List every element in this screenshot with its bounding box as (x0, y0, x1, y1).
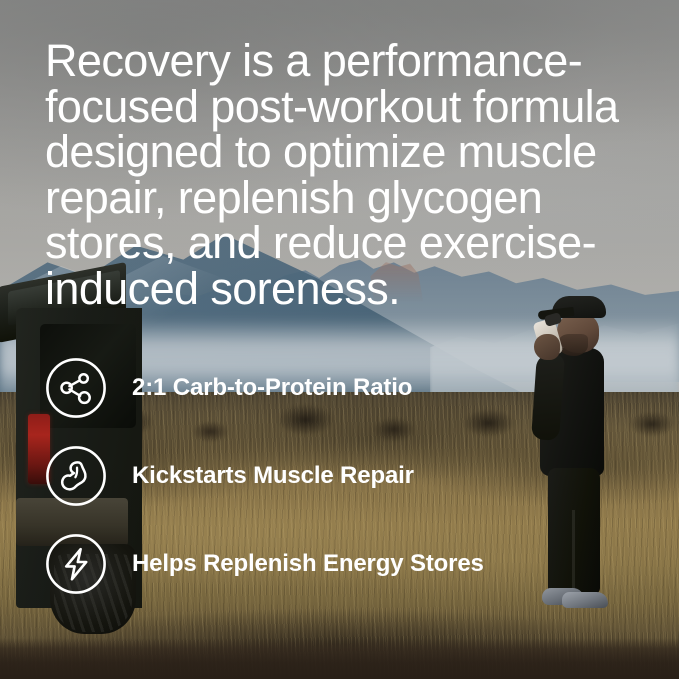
feature-label: Helps Replenish Energy Stores (132, 552, 484, 576)
lightning-bolt-icon (46, 534, 106, 594)
feature-list: 2:1 Carb-to-Protein Ratio Kickstarts Mus… (46, 358, 484, 594)
molecule-icon (46, 358, 106, 418)
headline-text: Recovery is a performance-focused post-w… (45, 38, 645, 311)
product-feature-banner: Recovery is a performance-focused post-w… (0, 0, 679, 679)
feature-label: 2:1 Carb-to-Protein Ratio (132, 376, 412, 400)
feature-label: Kickstarts Muscle Repair (132, 464, 414, 488)
overlay-content: Recovery is a performance-focused post-w… (0, 0, 679, 679)
feature-item-energy-stores: Helps Replenish Energy Stores (46, 534, 484, 594)
bicep-muscle-icon (46, 446, 106, 506)
feature-item-muscle-repair: Kickstarts Muscle Repair (46, 446, 484, 506)
feature-item-carb-protein-ratio: 2:1 Carb-to-Protein Ratio (46, 358, 484, 418)
